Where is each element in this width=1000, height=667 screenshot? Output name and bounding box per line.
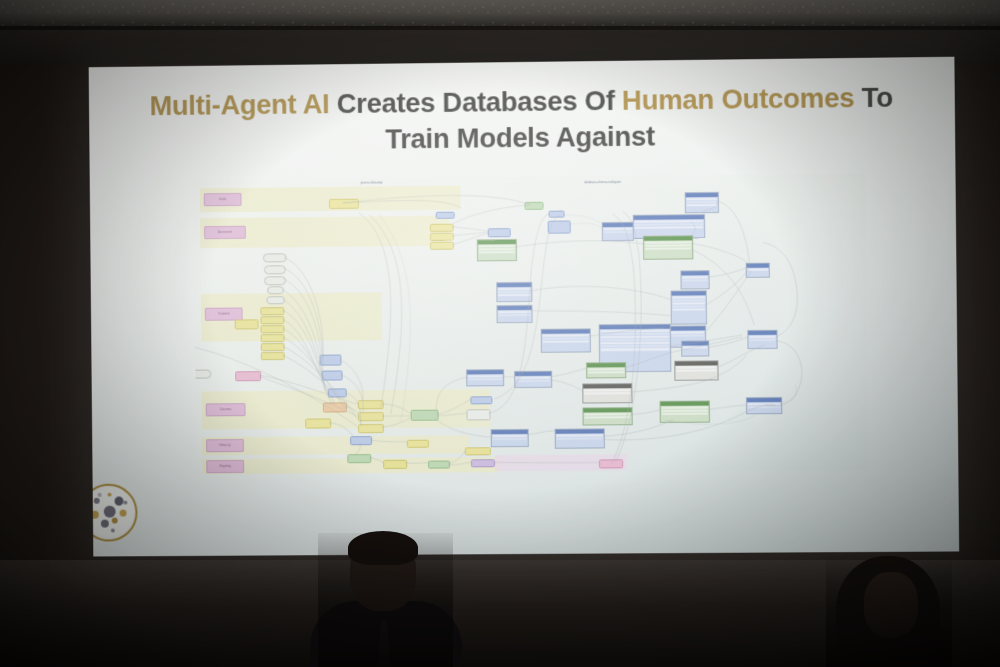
logo-dot [101, 520, 109, 528]
slide-title: Multi-Agent AI Creates Databases Of Huma… [89, 79, 955, 160]
logo-dot [120, 510, 127, 517]
presenter-right-shadow [826, 556, 952, 667]
logo-dot [123, 501, 127, 505]
architecture-diagram: process-flow-map database-schema-er-diag… [194, 173, 869, 474]
presenter-right [826, 556, 952, 667]
title-part-4: To [854, 82, 893, 114]
diagram-connectors [194, 173, 869, 474]
company-logo [89, 484, 138, 542]
logo-dot [111, 529, 115, 533]
diagram-inner: process-flow-map database-schema-er-diag… [194, 173, 869, 474]
logo-dot [104, 506, 116, 518]
title-part-1: Multi-Agent AI [149, 88, 329, 121]
logo-dot [98, 493, 102, 497]
presenter-left [318, 533, 453, 667]
logo-dot [112, 518, 118, 524]
presenter-left-shadow [318, 533, 453, 667]
logo-dot [91, 511, 99, 519]
logo-dot [108, 493, 112, 497]
title-part-3: Human Outcomes [622, 82, 855, 116]
projection-screen: Multi-Agent AI Creates Databases Of Huma… [89, 57, 960, 557]
logo-dot [115, 497, 124, 506]
logo-dot [94, 498, 100, 504]
photo-scene: Multi-Agent AI Creates Databases Of Huma… [0, 0, 1000, 667]
title-part-2: Creates Databases Of [329, 85, 622, 119]
